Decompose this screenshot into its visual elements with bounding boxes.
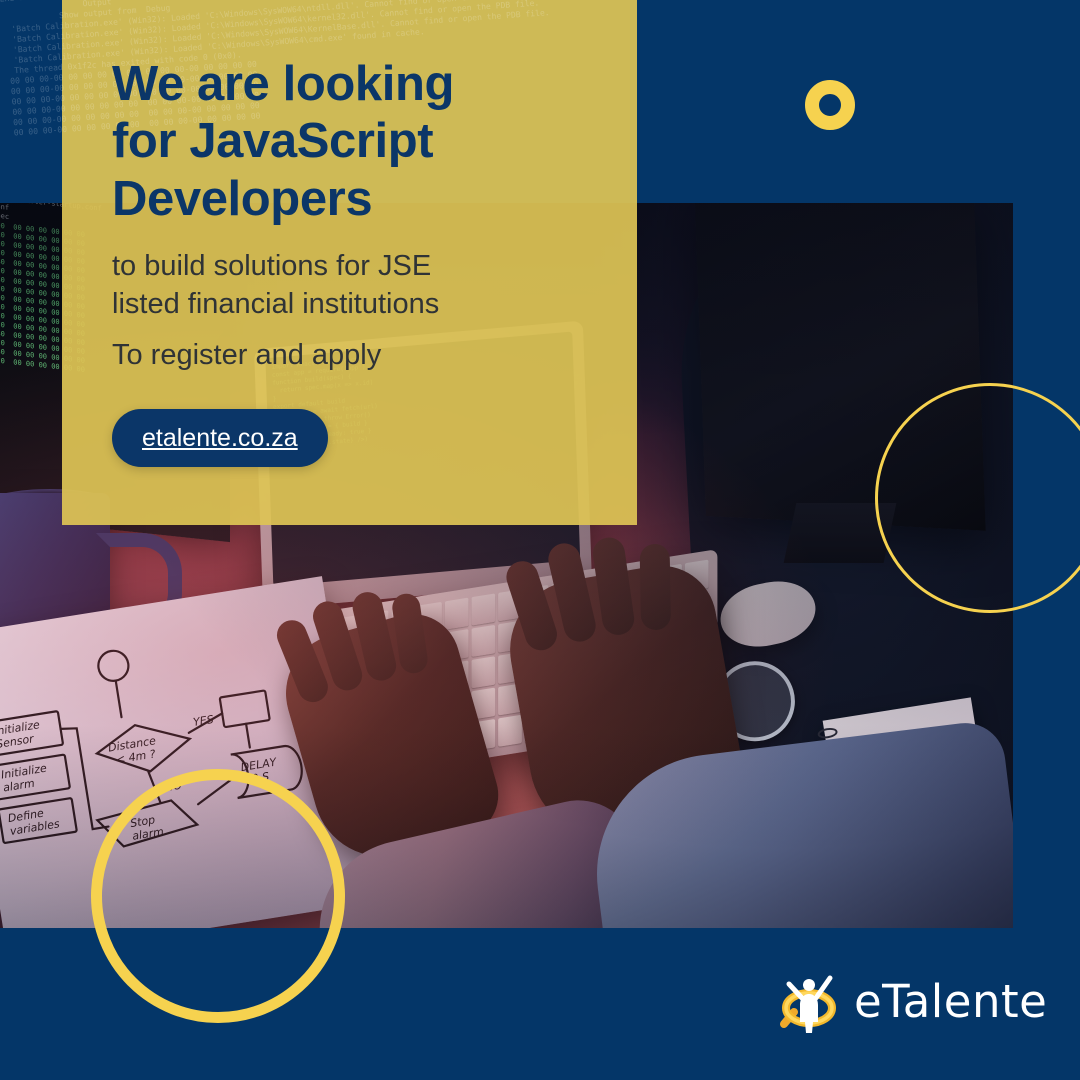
brand-logo: eTalente <box>778 968 1047 1034</box>
magnifying-glass-person-icon <box>778 968 840 1034</box>
brand-wordmark: eTalente <box>854 979 1047 1024</box>
headline-line-3: Developers <box>112 171 632 228</box>
thick-ring-decoration <box>91 769 345 1023</box>
website-url-button[interactable]: etalente.co.za <box>112 409 328 467</box>
filled-ring-decoration <box>805 80 855 130</box>
subheadline: to build solutions for JSE listed financ… <box>112 247 632 324</box>
cta-prompt: To register and apply <box>112 337 632 375</box>
subhead-line-2: listed financial institutions <box>112 285 632 323</box>
page-title: We are looking for JavaScript Developers <box>112 56 632 228</box>
subhead-line-1: to build solutions for JSE <box>112 247 632 285</box>
headline-line-2: for JavaScript <box>112 113 632 170</box>
headline-line-1: We are looking <box>112 56 632 113</box>
poster-canvas: shutdown-after-startup.conf .conf .spec … <box>0 0 1080 1080</box>
